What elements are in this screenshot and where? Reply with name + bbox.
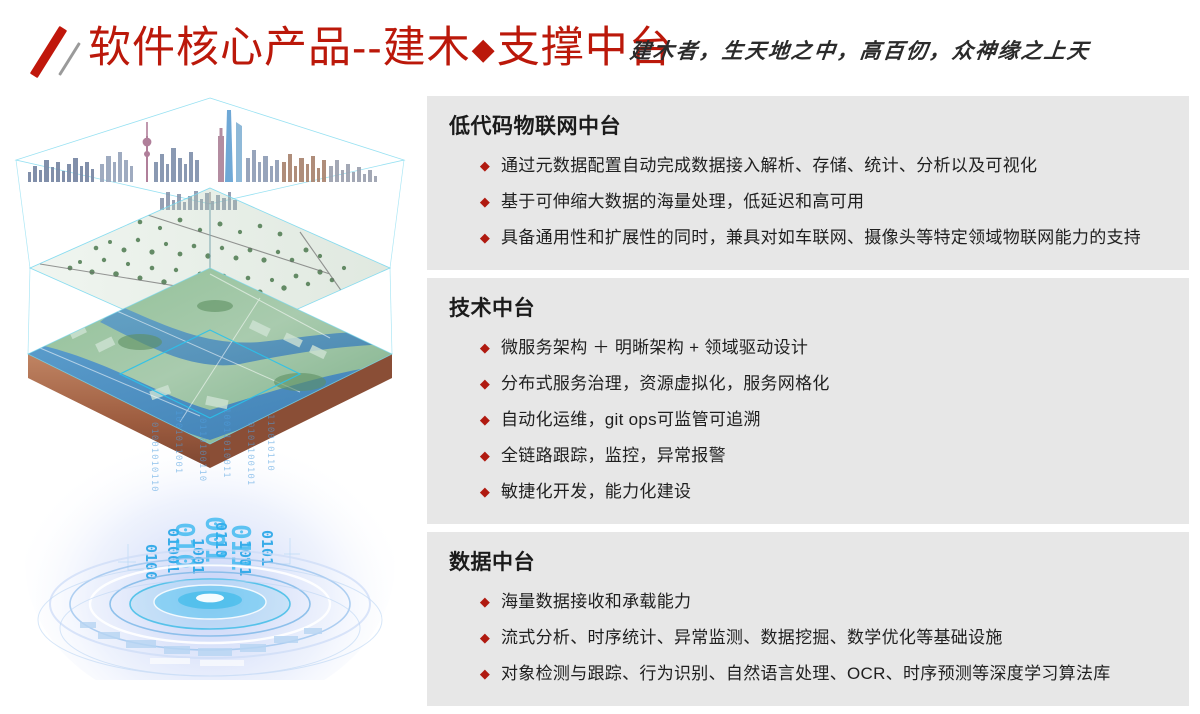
digital-twin-city-illustration: 01001010110 1001011001 0110100110 100110… (0, 92, 420, 680)
list-item-text: 具备通用性和扩展性的同时，兼具对如车联网、摄像头等特定领域物联网能力的支持 (501, 228, 1141, 247)
list-item-text: 通过元数据配置自动完成数据接入解析、存储、统计、分析以及可视化 (501, 156, 1037, 175)
list-item-text: 对象检测与跟踪、行为识别、自然语言处理、OCR、时序预测等深度学习算法库 (501, 664, 1111, 683)
diamond-bullet-icon: ◆ (479, 402, 491, 438)
svg-text:001: 001 (199, 516, 229, 563)
diamond-bullet-icon: ◆ (479, 438, 491, 474)
diamond-bullet-icon: ◆ (479, 330, 491, 366)
landmark-towers (218, 110, 242, 182)
satellite-terrain-base-layer (28, 268, 392, 468)
content-cards: 低代码物联网中台 ◆ 通过元数据配置自动完成数据接入解析、存储、统计、分析以及可… (427, 96, 1189, 714)
diamond-bullet-icon: ◆ (479, 366, 491, 402)
list-item: ◆ 全链路跟踪，监控，异常报警 (449, 438, 1167, 474)
svg-text:0110100110: 0110100110 (197, 418, 207, 482)
list-item: ◆ 通过元数据配置自动完成数据接入解析、存储、统计、分析以及可视化 (449, 148, 1167, 184)
list-item: ◆ 自动化运维，git ops可监管可追溯 (449, 402, 1167, 438)
bullet-list: ◆ 通过元数据配置自动完成数据接入解析、存储、统计、分析以及可视化 ◆ 基于可伸… (449, 148, 1167, 256)
svg-text:01001010110: 01001010110 (149, 422, 159, 493)
list-item-text: 敏捷化开发，能力化建设 (501, 482, 691, 501)
page-title: 软件核心产品--建木◆支撑中台 (88, 20, 673, 78)
svg-text:10011010011: 10011010011 (221, 408, 231, 479)
page-header: 软件核心产品--建木◆支撑中台 建木者，生天地之中，高百仞，众神缘之上天 (0, 0, 1200, 92)
list-item: ◆ 海量数据接收和承载能力 (449, 584, 1167, 620)
logo-slash-gray (58, 42, 81, 76)
tv-tower (143, 122, 152, 182)
diamond-bullet-icon: ◆ (479, 584, 491, 620)
list-item: ◆ 基于可伸缩大数据的海量处理，低延迟和高可用 (449, 184, 1167, 220)
list-item: ◆ 微服务架构 ＋ 明晰架构 + 领域驱动设计 (449, 330, 1167, 366)
list-item: ◆ 具备通用性和扩展性的同时，兼具对如车联网、摄像头等特定领域物联网能力的支持 (449, 220, 1167, 256)
title-diamond-icon: ◆ (471, 33, 497, 66)
page-title-main: 软件核心产品--建木 (88, 24, 471, 72)
list-item-text: 海量数据接收和承载能力 (501, 592, 691, 611)
card-title: 数据中台 (449, 548, 1167, 578)
diamond-bullet-icon: ◆ (479, 656, 491, 692)
list-item-text: 流式分析、时序统计、异常监测、数据挖掘、数学优化等基础设施 (501, 628, 1003, 647)
diamond-bullet-icon: ◆ (479, 620, 491, 656)
svg-text:010: 010 (169, 522, 199, 569)
diamond-bullet-icon: ◆ (479, 220, 491, 256)
bullet-list: ◆ 海量数据接收和承载能力 ◆ 流式分析、时序统计、异常监测、数据挖掘、数学优化… (449, 584, 1167, 692)
diamond-bullet-icon: ◆ (479, 148, 491, 184)
card-title: 技术中台 (449, 294, 1167, 324)
list-item: ◆ 分布式服务治理，资源虚拟化，服务网格化 (449, 366, 1167, 402)
card-title: 低代码物联网中台 (449, 112, 1167, 142)
list-item: ◆ 敏捷化开发，能力化建设 (449, 474, 1167, 510)
diamond-bullet-icon: ◆ (479, 474, 491, 510)
list-item-text: 自动化运维，git ops可监管可追溯 (501, 410, 761, 429)
bullet-list: ◆ 微服务架构 ＋ 明晰架构 + 领域驱动设计 ◆ 分布式服务治理，资源虚拟化，… (449, 330, 1167, 510)
list-item: ◆ 对象检测与跟踪、行为识别、自然语言处理、OCR、时序预测等深度学习算法库 (449, 656, 1167, 692)
list-item-text: 微服务架构 ＋ 明晰架构 + 领域驱动设计 (501, 338, 808, 357)
svg-text:110010110: 110010110 (265, 414, 275, 472)
list-item-text: 基于可伸缩大数据的海量处理，低延迟和高可用 (501, 192, 864, 211)
header-motto: 建木者，生天地之中，高百仞，众神缘之上天 (628, 36, 1091, 66)
diamond-bullet-icon: ◆ (479, 184, 491, 220)
card-technology-platform: 技术中台 ◆ 微服务架构 ＋ 明晰架构 + 领域驱动设计 ◆ 分布式服务治理，资… (427, 278, 1189, 524)
list-item-text: 全链路跟踪，监控，异常报警 (501, 446, 726, 465)
card-low-code-iot-platform: 低代码物联网中台 ◆ 通过元数据配置自动完成数据接入解析、存储、统计、分析以及可… (427, 96, 1189, 270)
list-item: ◆ 流式分析、时序统计、异常监测、数据挖掘、数学优化等基础设施 (449, 620, 1167, 656)
list-item-text: 分布式服务治理，资源虚拟化，服务网格化 (501, 374, 830, 393)
svg-text:0101100101: 0101100101 (245, 422, 255, 486)
svg-text:1001011001: 1001011001 (173, 410, 183, 474)
